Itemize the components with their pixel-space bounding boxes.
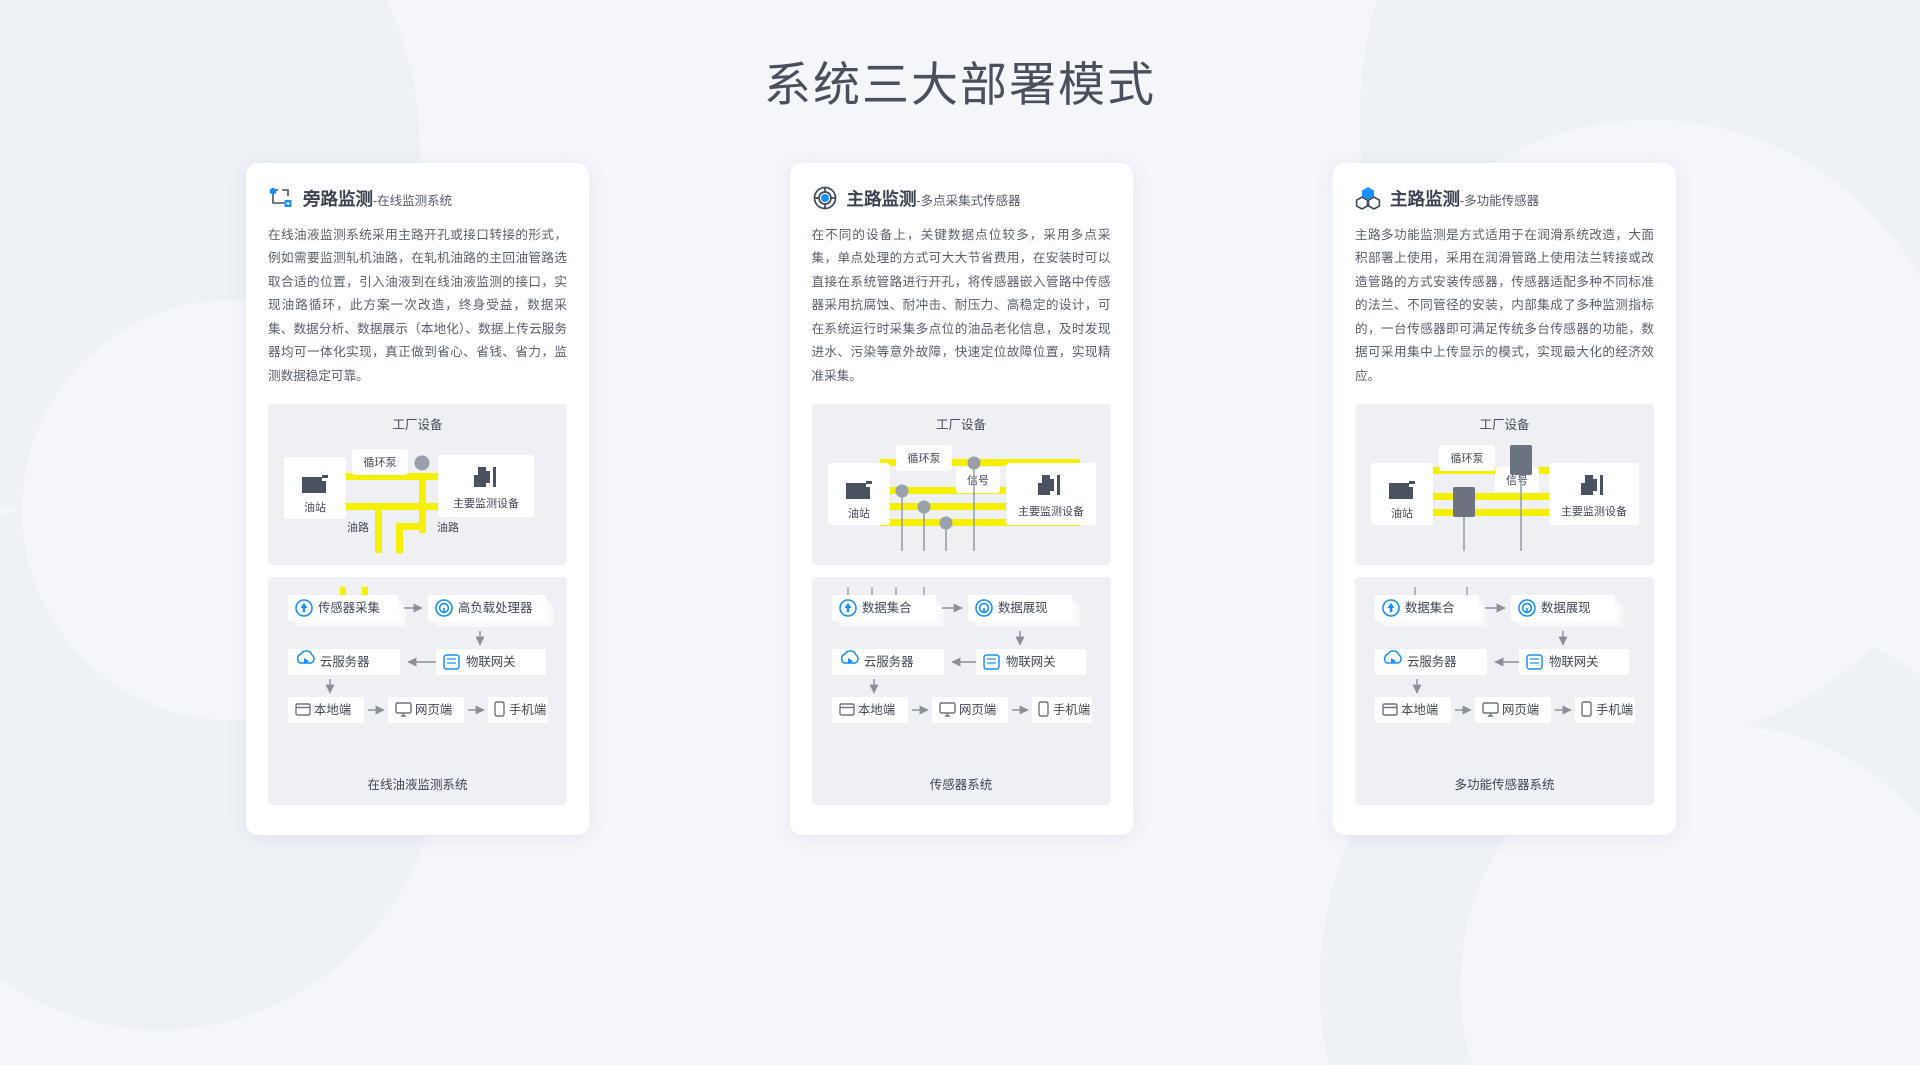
flow-node-local-terminal: 本地端: [288, 697, 364, 723]
equipment-diagram: 油站 循环泵 主要监测设备: [280, 441, 555, 553]
card-title-main: 主路监测: [847, 189, 917, 209]
equipment-circulation-pump: 循环泵: [1439, 445, 1495, 471]
flow-diagram: 数据集合 数据展现: [1367, 587, 1642, 762]
equipment-circulation-pump: 循环泵: [896, 445, 952, 471]
svg-text:循环泵: 循环泵: [364, 456, 397, 469]
panel-label: 工厂设备: [280, 414, 555, 433]
cube-cluster-icon: [1355, 185, 1381, 211]
flow-node-local-terminal: 本地端: [832, 697, 908, 723]
card-title-main: 旁路监测: [303, 189, 373, 209]
flow-node-sensor-collection: 传感器采集: [288, 595, 406, 627]
factory-equipment-panel: 工厂设备 油站: [268, 404, 567, 565]
card-mainline-multifunction[interactable]: 主路监测-多功能传感器 主路多功能监测是方式适用于在润滑系统改造，大面积部署上使…: [1333, 163, 1676, 835]
card-title-sub: -多功能传感器: [1460, 194, 1539, 208]
card-title: 主路监测-多点采集式传感器: [847, 186, 1021, 211]
flow-node-data-presentation: 数据展现: [1511, 595, 1623, 627]
svg-text:本地端: 本地端: [1401, 703, 1438, 717]
flow-node-web-terminal: 网页端: [388, 697, 464, 723]
equipment-diagram: 油站 循环泵 信号: [824, 441, 1099, 553]
svg-text:数据展现: 数据展现: [998, 600, 1048, 615]
flow-diagram: 传感器采集 高负载处理器: [280, 587, 555, 762]
card-title: 旁路监测-在线监测系统: [303, 186, 452, 211]
panel-label: 工厂设备: [1367, 414, 1642, 433]
card-description: 在不同的设备上，关键数据点位较多，采用多点采集，单点处理的方式可大大节省费用，在…: [812, 224, 1111, 388]
svg-text:本地端: 本地端: [314, 703, 351, 717]
flow-node-data-aggregation: 数据集合: [1375, 595, 1487, 627]
flow-node-iot-gateway: 物联网关: [436, 649, 546, 675]
page-title: 系统三大部署模式: [0, 46, 1920, 115]
pipe-label-right: 油路: [437, 520, 459, 534]
svg-text:网页端: 网页端: [415, 703, 452, 717]
flow-node-data-presentation: 数据展现: [968, 595, 1080, 627]
flow-node-iot-gateway: 物联网关: [1519, 649, 1629, 675]
factory-equipment-panel: 工厂设备 油站: [812, 404, 1111, 565]
svg-text:主要监测设备: 主要监测设备: [1561, 504, 1627, 518]
svg-text:数据展现: 数据展现: [1541, 600, 1591, 615]
equipment-oil-station: 油站: [828, 463, 890, 525]
flow-node-cloud-server: 云服务器: [288, 649, 400, 675]
svg-text:油站: 油站: [304, 500, 326, 514]
flow-node-cloud-server: 云服务器: [1375, 649, 1487, 675]
flow-node-local-terminal: 本地端: [1375, 697, 1451, 723]
svg-text:油站: 油站: [1391, 506, 1413, 520]
card-description: 主路多功能监测是方式适用于在润滑系统改造，大面积部署上使用，采用在润滑管路上使用…: [1355, 224, 1654, 388]
card-mainline-multipoint[interactable]: 主路监测-多点采集式传感器 在不同的设备上，关键数据点位较多，采用多点采集，单点…: [790, 163, 1133, 835]
flow-node-high-load-processor: 高负载处理器: [428, 595, 554, 627]
flow-node-mobile-terminal: 手机端: [1032, 697, 1092, 723]
card-title-sub: -在线监测系统: [373, 194, 452, 208]
svg-text:信号: 信号: [1506, 474, 1528, 487]
equipment-main-monitored: 主要监测设备: [438, 455, 534, 517]
svg-text:手机端: 手机端: [1596, 703, 1633, 717]
card-description: 在线油液监测系统采用主路开孔或接口转接的形式，例如需要监测轧机油路，在轧机油路的…: [268, 224, 567, 388]
svg-text:云服务器: 云服务器: [864, 654, 914, 669]
deployment-mode-cards: 旁路监测-在线监测系统 在线油液监测系统采用主路开孔或接口转接的形式，例如需要监…: [246, 163, 1676, 835]
svg-text:高负载处理器: 高负载处理器: [458, 600, 533, 615]
card-header: 主路监测-多功能传感器: [1355, 185, 1654, 211]
card-title-sub: -多点采集式传感器: [917, 194, 1021, 208]
svg-text:本地端: 本地端: [858, 703, 895, 717]
svg-text:手机端: 手机端: [509, 703, 546, 717]
system-flow-panel: 传感器采集 高负载处理器: [268, 577, 567, 805]
flow-caption: 在线油液监测系统: [280, 774, 555, 793]
flow-caption: 多功能传感器系统: [1367, 774, 1642, 793]
equipment-signal-box: 信号: [956, 467, 1000, 493]
card-bypass-monitoring[interactable]: 旁路监测-在线监测系统 在线油液监测系统采用主路开孔或接口转接的形式，例如需要监…: [246, 163, 589, 835]
card-title: 主路监测-多功能传感器: [1390, 186, 1539, 211]
svg-text:物联网关: 物联网关: [1549, 655, 1599, 669]
flow-node-iot-gateway: 物联网关: [976, 649, 1086, 675]
card-header: 旁路监测-在线监测系统: [268, 185, 567, 211]
factory-equipment-panel: 工厂设备 油站 循环泵: [1355, 404, 1654, 565]
svg-text:云服务器: 云服务器: [320, 654, 370, 669]
svg-text:传感器采集: 传感器采集: [318, 600, 380, 615]
equipment-oil-station: 油站: [1371, 463, 1433, 525]
svg-text:数据集合: 数据集合: [1405, 600, 1455, 615]
system-flow-panel: 数据集合 数据展现: [1355, 577, 1654, 805]
pipe-label-left: 油路: [347, 520, 369, 534]
svg-text:网页端: 网页端: [1502, 703, 1539, 717]
equipment-diagram: 油站 循环泵 信号 主要监测设备: [1367, 441, 1642, 553]
flow-node-cloud-server: 云服务器: [832, 649, 944, 675]
system-flow-panel: 数据集合 数据展现: [812, 577, 1111, 805]
flow-node-mobile-terminal: 手机端: [1575, 697, 1635, 723]
svg-text:手机端: 手机端: [1053, 703, 1090, 717]
sensor-node: [415, 455, 430, 470]
svg-text:循环泵: 循环泵: [1451, 452, 1484, 465]
branch-flow-icon: [268, 185, 294, 211]
svg-text:数据集合: 数据集合: [862, 600, 912, 615]
flow-caption: 传感器系统: [824, 774, 1099, 793]
svg-text:信号: 信号: [967, 474, 989, 487]
svg-text:循环泵: 循环泵: [907, 452, 940, 465]
page-root: 系统三大部署模式 旁路监测-在线监测系统 在线油液监测系统采用: [0, 0, 1920, 1065]
flow-node-web-terminal: 网页端: [1475, 697, 1551, 723]
svg-text:主要监测设备: 主要监测设备: [1018, 504, 1084, 518]
svg-text:云服务器: 云服务器: [1407, 654, 1457, 669]
flow-node-data-aggregation: 数据集合: [832, 595, 944, 627]
equipment-main-monitored: 主要监测设备: [1549, 463, 1639, 525]
svg-text:主要监测设备: 主要监测设备: [453, 496, 519, 510]
card-title-main: 主路监测: [1390, 189, 1460, 209]
svg-text:油站: 油站: [848, 506, 870, 520]
equipment-circulation-pump: 循环泵: [352, 449, 408, 475]
card-header: 主路监测-多点采集式传感器: [812, 185, 1111, 211]
flow-node-mobile-terminal: 手机端: [488, 697, 548, 723]
lifebuoy-sensor-icon: [812, 185, 838, 211]
panel-label: 工厂设备: [824, 414, 1099, 433]
equipment-main-monitored: 主要监测设备: [1006, 463, 1096, 525]
svg-text:物联网关: 物联网关: [466, 655, 516, 669]
flow-diagram: 数据集合 数据展现: [824, 587, 1099, 762]
svg-text:网页端: 网页端: [959, 703, 996, 717]
flow-node-web-terminal: 网页端: [932, 697, 1008, 723]
equipment-oil-station: 油站: [284, 457, 346, 519]
svg-text:物联网关: 物联网关: [1006, 655, 1056, 669]
